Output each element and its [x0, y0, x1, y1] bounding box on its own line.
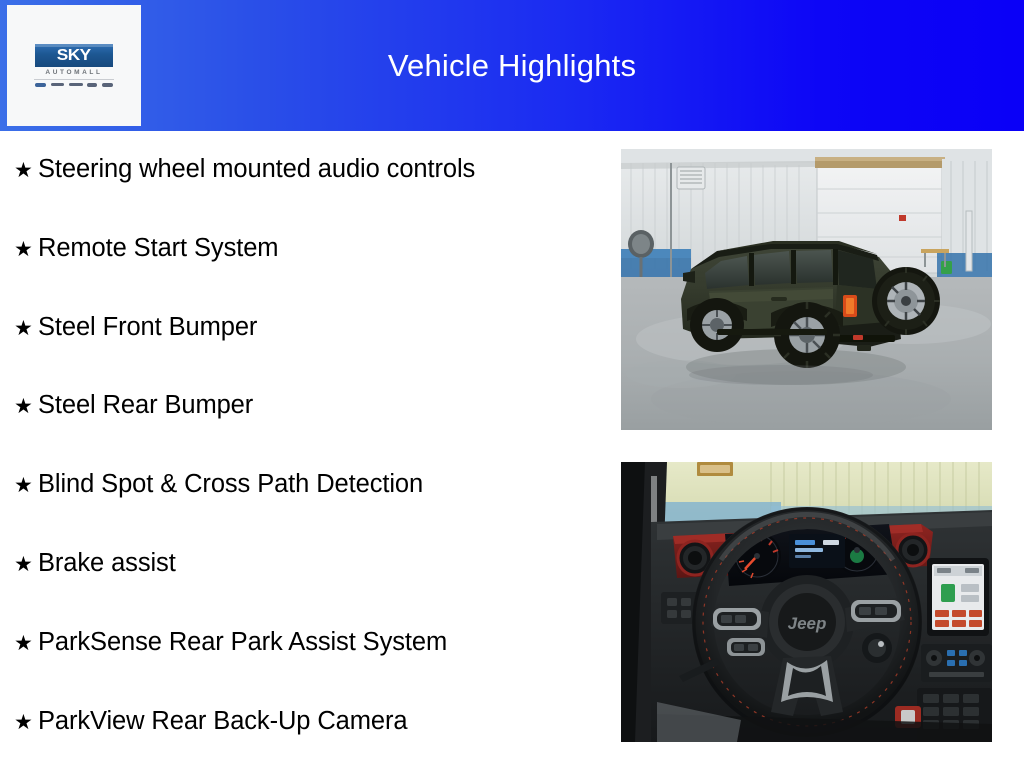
vehicle-exterior-illustration [621, 149, 992, 430]
star-bullet-icon: ★ [14, 633, 38, 654]
ram-logo-icon [102, 83, 113, 87]
feature-item: ★Steel Front Bumper [14, 315, 257, 341]
star-bullet-icon: ★ [14, 712, 38, 733]
feature-label: Steel Rear Bumper [38, 393, 253, 419]
feature-item: ★Steel Rear Bumper [14, 393, 253, 419]
dealer-logo: SKY AUTOMALL [7, 5, 141, 126]
jeep-logo-icon [87, 83, 97, 87]
automall-wordmark: AUTOMALL [45, 70, 102, 77]
page-title: Vehicle Highlights [0, 0, 1024, 131]
lincoln-logo-icon [51, 83, 64, 86]
ford-logo-icon [35, 83, 46, 87]
feature-label: Steel Front Bumper [38, 315, 257, 341]
star-bullet-icon: ★ [14, 239, 38, 260]
feature-item: ★Remote Start System [14, 236, 278, 262]
star-bullet-icon: ★ [14, 318, 38, 339]
feature-item: ★Brake assist [14, 551, 176, 577]
vehicle-interior-photo: Jeep [621, 462, 992, 742]
steering-wheel-illustration: Jeep [621, 462, 992, 742]
feature-item: ★Blind Spot & Cross Path Detection [14, 472, 423, 498]
sky-badge: SKY [35, 44, 113, 67]
chrysler-logo-icon [69, 83, 83, 86]
sky-wordmark: SKY [57, 48, 91, 64]
feature-item: ★ParkSense Rear Park Assist System [14, 630, 447, 656]
feature-label: Blind Spot & Cross Path Detection [38, 472, 423, 498]
vehicle-exterior-photo [621, 149, 992, 430]
star-bullet-icon: ★ [14, 554, 38, 575]
star-bullet-icon: ★ [14, 160, 38, 181]
svg-text:Jeep: Jeep [788, 614, 827, 633]
feature-label: Brake assist [38, 551, 176, 577]
star-bullet-icon: ★ [14, 396, 38, 417]
page-header: Vehicle Highlights [0, 0, 1024, 131]
feature-label: ParkSense Rear Park Assist System [38, 630, 447, 656]
vehicle-highlights-list: ★Steering wheel mounted audio controls★R… [0, 131, 610, 768]
feature-label: ParkView Rear Back-Up Camera [38, 709, 407, 735]
feature-item: ★Steering wheel mounted audio controls [14, 157, 475, 183]
dealer-logo-inner: SKY AUTOMALL [32, 44, 116, 87]
feature-item: ★ParkView Rear Back-Up Camera [14, 709, 407, 735]
feature-label: Steering wheel mounted audio controls [38, 157, 475, 183]
brand-logo-row [35, 83, 113, 87]
feature-label: Remote Start System [38, 236, 278, 262]
star-bullet-icon: ★ [14, 475, 38, 496]
logo-divider [34, 79, 114, 80]
